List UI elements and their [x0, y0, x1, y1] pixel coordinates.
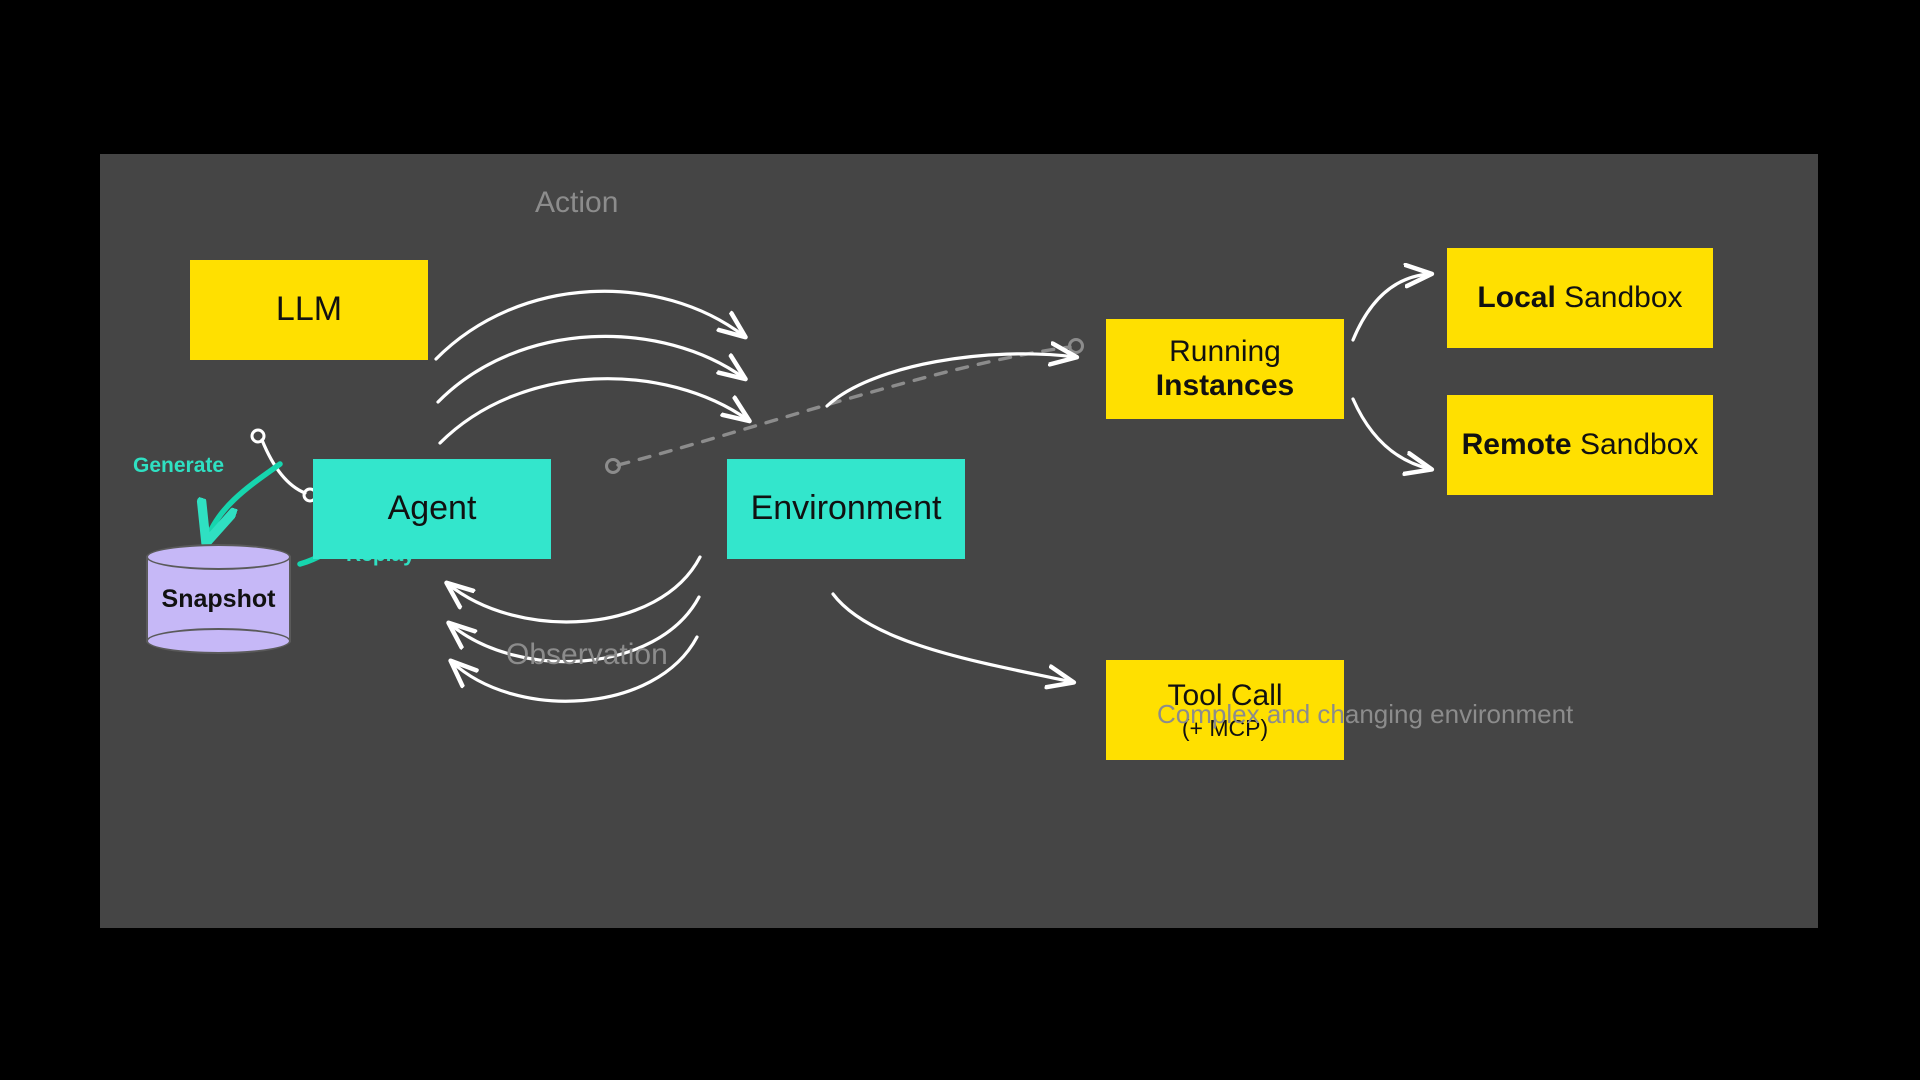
- legend: Complex and changing environment: [1119, 699, 1573, 730]
- legend-label: Complex and changing environment: [1157, 699, 1573, 730]
- node-remote-sandbox-rest: Sandbox: [1572, 428, 1699, 461]
- node-local-sandbox[interactable]: Local Sandbox: [1447, 248, 1713, 348]
- node-local-sandbox-rest: Sandbox: [1556, 281, 1683, 314]
- node-remote-sandbox-label: Remote Sandbox: [1462, 428, 1699, 463]
- edge-label-generate: Generate: [133, 454, 224, 478]
- node-agent-label: Agent: [388, 489, 477, 528]
- node-running-instances-line1: Running: [1169, 335, 1281, 370]
- node-remote-sandbox[interactable]: Remote Sandbox: [1447, 395, 1713, 495]
- flow-label-observation: Observation: [506, 638, 668, 672]
- llm-connector: [252, 430, 316, 501]
- running-to-local-arrow: [1353, 274, 1430, 340]
- node-llm-label: LLM: [276, 290, 342, 329]
- running-to-remote-arrow: [1353, 399, 1430, 469]
- legend-yellow-dot-icon: [1119, 704, 1141, 726]
- diagram-canvas: Action Observation Generate Replay LLM A…: [0, 0, 1920, 1080]
- node-environment-label: Environment: [751, 489, 942, 528]
- node-snapshot-label: Snapshot: [146, 544, 291, 654]
- node-remote-sandbox-emphasis: Remote: [1462, 428, 1572, 461]
- node-local-sandbox-emphasis: Local: [1477, 281, 1555, 314]
- node-running-instances[interactable]: Running Instances: [1106, 319, 1344, 419]
- flow-label-action: Action: [535, 186, 618, 220]
- node-agent[interactable]: Agent: [313, 459, 551, 559]
- observation-arrows: [448, 557, 700, 701]
- env-to-toolcall-arrow: [833, 594, 1072, 682]
- env-to-running-arrow: [827, 354, 1075, 406]
- node-local-sandbox-label: Local Sandbox: [1477, 281, 1682, 316]
- action-arrows: [436, 291, 748, 443]
- diagram-frame: Action Observation Generate Replay LLM A…: [100, 154, 1818, 928]
- node-llm[interactable]: LLM: [190, 260, 428, 360]
- node-environment[interactable]: Environment: [727, 459, 965, 559]
- node-snapshot[interactable]: Snapshot: [146, 544, 291, 654]
- dashed-connector: [607, 340, 1083, 473]
- node-running-instances-line2: Instances: [1156, 369, 1294, 404]
